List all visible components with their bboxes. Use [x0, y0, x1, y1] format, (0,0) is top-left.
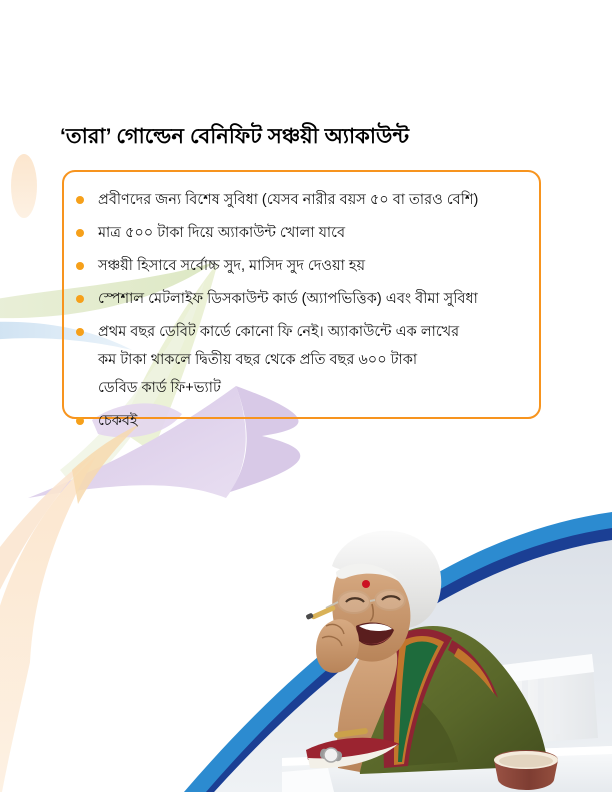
list-item-line: প্রথম বছর ডেবিট কার্ডে কোনো ফি নেই। অ্যা…	[98, 318, 529, 346]
list-item: চেকবই	[74, 407, 529, 435]
page-title: ‘তারা’ গোল্ডেন বেনিফিট সঞ্চয়ী অ্যাকাউন্…	[60, 122, 409, 152]
features-list: প্রবীণদের জন্য বিশেষ সুবিধা (যেসব নারীর …	[64, 172, 539, 450]
list-item-line: কম টাকা থাকলে দ্বিতীয় বছর থেকে প্রতি বছ…	[98, 346, 529, 374]
bullet-icon	[76, 295, 84, 303]
bullet-icon	[76, 229, 84, 237]
decor-swoosh-peach	[0, 456, 96, 792]
bullet-icon	[76, 328, 84, 336]
list-item-line: প্রবীণদের জন্য বিশেষ সুবিধা (যেসব নারীর …	[98, 186, 529, 214]
features-box: প্রবীণদের জন্য বিশেষ সুবিধা (যেসব নারীর …	[62, 170, 541, 419]
list-item-line: মাত্র ৫০০ টাকা দিয়ে অ্যাকাউন্ট খোলা যাব…	[98, 219, 529, 247]
hand	[316, 619, 359, 673]
bullet-icon	[76, 262, 84, 270]
list-item: সঞ্চয়ী হিসাবে সর্বোচ্চ সুদ, মাসিদ সুদ দ…	[74, 252, 529, 280]
bullet-icon	[76, 196, 84, 204]
pen	[305, 605, 336, 620]
list-item: স্পেশাল মেটলাইফ ডিসকাউন্ট কার্ড (অ্যাপভি…	[74, 285, 529, 313]
list-item: প্রবীণদের জন্য বিশেষ সুবিধা (যেসব নারীর …	[74, 186, 529, 214]
bullet-icon	[76, 417, 84, 425]
poster-page: ‘তারা’ গোল্ডেন বেনিফিট সঞ্চয়ী অ্যাকাউন্…	[0, 0, 612, 792]
bindi	[362, 580, 370, 588]
list-item: প্রথম বছর ডেবিট কার্ডে কোনো ফি নেই। অ্যা…	[74, 318, 529, 402]
list-item-line: স্পেশাল মেটলাইফ ডিসকাউন্ট কার্ড (অ্যাপভি…	[98, 285, 529, 313]
list-item-line: সঞ্চয়ী হিসাবে সর্বোচ্চ সুদ, মাসিদ সুদ দ…	[98, 252, 529, 280]
paper	[282, 768, 334, 792]
list-item-line: চেকবই	[98, 407, 529, 435]
decor-petal-orange	[11, 154, 37, 218]
list-item: মাত্র ৫০০ টাকা দিয়ে অ্যাকাউন্ট খোলা যাব…	[74, 219, 529, 247]
decor-swoosh-peach-2	[0, 456, 92, 610]
cup	[494, 750, 558, 790]
list-item-line: ডেবিড কার্ড ফি+ভ্যাট	[98, 374, 529, 402]
photo-elderly-woman	[282, 522, 612, 792]
